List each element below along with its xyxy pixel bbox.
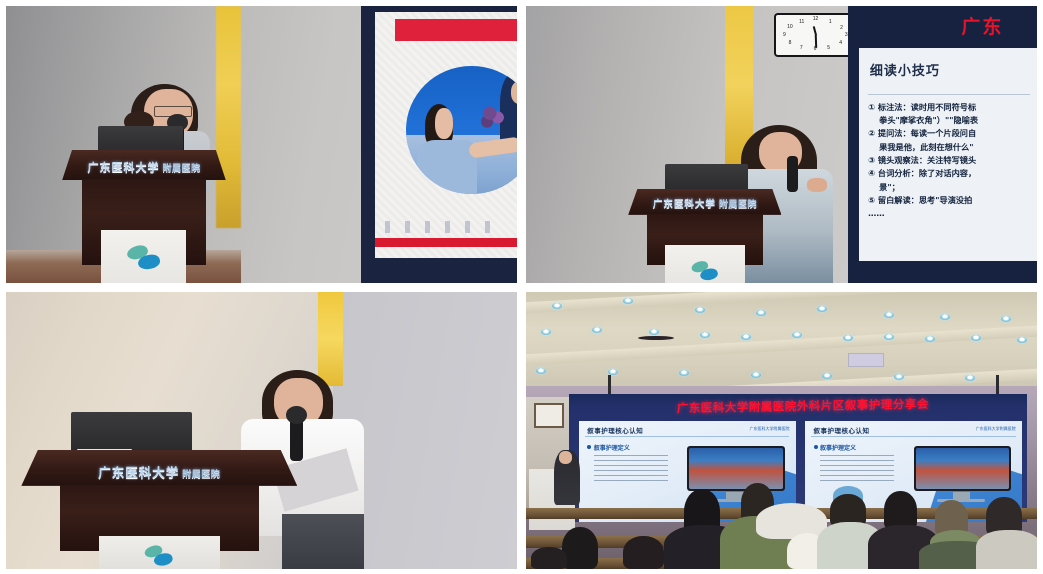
clock-number-7: 7: [800, 46, 803, 51]
slide-heading: 细读小技巧: [870, 60, 940, 79]
slide-icon-row: [379, 221, 501, 233]
photo-bottom-left: 广东医科大学附属医院: [6, 292, 517, 569]
lectern-label: 广东医科大学附属医院: [628, 196, 781, 210]
clock-number-10: 10: [787, 25, 793, 30]
slide-header: 叙事护理核心认知: [814, 425, 870, 435]
slide-bullet-5: ⑤ 留白解读：思考"导演没拍: [868, 194, 1035, 207]
ceiling-downlight: [741, 334, 751, 340]
clock-number-11: 11: [799, 20, 804, 25]
slide-bullet-4-cont: 景"；: [868, 181, 1035, 194]
microphone-stand: [787, 156, 798, 192]
lectern-label-main: 广东医科大学: [653, 199, 716, 210]
lectern-base: [101, 230, 186, 283]
wall-clock: 12 1 2 3 4 5 6 7 8 9 10 11: [774, 13, 858, 57]
slide-bullet: 叙事护理定义: [820, 443, 856, 452]
slide-red-banner: [395, 19, 517, 41]
photo-top-right: 12 1 2 3 4 5 6 7 8 9 10 11 广东 细读小技巧: [526, 6, 1037, 283]
lectern: 广东医科大学附属医院: [62, 150, 226, 283]
patient-body: [417, 140, 477, 194]
audience-head: [623, 536, 664, 569]
ceiling-downlight: [792, 332, 802, 338]
ceiling-downlight: [700, 332, 710, 338]
photo-top-left: 广东医科大学附属医院: [6, 6, 517, 283]
ceiling-downlight: [822, 373, 832, 379]
lectern-label: 广东医科大学附属医院: [62, 159, 226, 175]
laptop-screen: [665, 164, 748, 192]
projection-screen: [361, 6, 517, 283]
clock-minute-hand: [815, 35, 817, 48]
slide-header: 叙事护理核心认知: [587, 425, 643, 435]
audience-shoulders: [976, 530, 1037, 569]
clock-number-12: 12: [813, 17, 819, 22]
ceiling-downlight: [608, 369, 618, 375]
lectern-label: 广东医科大学附属医院: [21, 462, 297, 481]
slide-bullet-1-cont: 拳头"摩挲衣角"）""隐喻表: [868, 114, 1035, 127]
butterfly-logo: [127, 246, 161, 272]
ceiling-downlight: [1017, 337, 1027, 343]
ceiling-downlight: [536, 368, 546, 374]
slide-bullet-list: ① 标注法：读时用不同符号标 拳头"摩挲衣角"）""隐喻表 ② 提问法：每读一个…: [868, 101, 1035, 257]
slide-bottom-bar: [375, 238, 517, 247]
clock-face: 12 1 2 3 4 5 6 7 8 9 10 11: [776, 15, 856, 55]
wall-frame: [534, 403, 565, 428]
ceiling-downlight: [894, 374, 904, 380]
butterfly-logo: [145, 546, 174, 568]
led-banner-title: 广东医科大学附属医院外科片区叙事护理分享会: [597, 395, 1009, 423]
ceiling-downlight: [695, 307, 705, 313]
ceiling-vent: [848, 353, 884, 367]
laptop-screen: [71, 412, 192, 452]
ceiling-downlight: [884, 312, 894, 318]
ceiling-downlight: [971, 335, 981, 341]
monitor-image: [689, 448, 783, 488]
slide-body-text: [594, 455, 668, 481]
patient-face: [435, 108, 453, 139]
lectern-label-main: 广东医科大学: [98, 465, 179, 480]
lectern-base: [665, 245, 745, 283]
ceiling-downlight: [541, 329, 551, 335]
lectern-base: [99, 536, 220, 569]
audience-head: [531, 547, 567, 569]
slide-oval-photo: [406, 66, 517, 194]
bullet-dot-icon: [587, 445, 591, 449]
ceiling-downlight: [592, 327, 602, 333]
ceiling-downlight: [925, 336, 935, 342]
microphone-head: [286, 406, 307, 424]
speaker-face: [559, 451, 572, 463]
presentation-slide: 细读小技巧 ① 标注法：读时用不同符号标 拳头"摩挲衣角"）""隐喻表 ② 提问…: [859, 48, 1037, 261]
presentation-slide: [375, 12, 517, 259]
ceiling: [526, 292, 1037, 397]
clock-number-9: 9: [783, 33, 786, 38]
monitor-image: [916, 448, 1010, 488]
clock-number-8: 8: [789, 41, 792, 46]
ceiling-downlight: [552, 303, 562, 309]
slide-body-text: [820, 455, 894, 481]
slide-ellipsis: ……: [868, 207, 1035, 220]
slide-monitor-graphic: [687, 446, 785, 490]
speaker-hand: [807, 178, 827, 192]
slide-monitor-graphic: [914, 446, 1012, 490]
lectern-label-main: 广东医科大学: [87, 161, 159, 174]
ceiling-downlight: [843, 335, 853, 341]
ceiling-band-upper: [526, 292, 1037, 314]
ceiling-band-mid: [526, 324, 1037, 366]
bullet-dot-icon: [814, 445, 818, 449]
lectern-label-sub: 附属医院: [719, 200, 757, 210]
slide-bullet-2-cont: 果我是他，此刻在想什么": [868, 141, 1035, 154]
lectern-label-sub: 附属医院: [162, 164, 200, 174]
clock-number-5: 5: [827, 46, 830, 51]
slide-divider: [811, 436, 1015, 437]
butterfly-logo: [691, 261, 718, 282]
slide-bullet-2: ② 提问法：每读一个片段问自: [868, 127, 1035, 140]
ceiling-downlight: [884, 334, 894, 340]
audience-head: [562, 527, 598, 569]
projection-screen: 广东 细读小技巧 ① 标注法：读时用不同符号标 拳头"摩挲衣角"）""隐喻表 ②…: [848, 6, 1037, 283]
slide-bullet-1: ① 标注法：读时用不同符号标: [868, 101, 1035, 114]
slide-divider: [585, 436, 789, 437]
ceiling-downlight: [817, 306, 827, 312]
ceiling-downlight: [756, 310, 766, 316]
slide-red-title: 广东: [961, 12, 1037, 42]
slide-bullet-4: ④ 台词分析：除了对话内容，: [868, 167, 1035, 180]
lectern: 广东医科大学附属医院: [21, 450, 297, 569]
lectern: 广东医科大学附属医院: [628, 189, 781, 283]
yellow-curtain: [318, 292, 344, 386]
clock-number-1: 1: [829, 20, 832, 25]
slide-logo-text: 广东医科大学附属医院: [749, 426, 789, 432]
slide-bullet: 叙事护理定义: [594, 443, 630, 452]
photo-collage: 广东医科大学附属医院 12 1 2 3 4 5 6 7: [0, 0, 1043, 574]
ceiling-downlight: [751, 372, 761, 378]
clock-number-4: 4: [839, 41, 842, 46]
slide-divider: [868, 94, 1030, 95]
ceiling-downlight: [940, 314, 950, 320]
clock-number-2: 2: [840, 26, 843, 31]
ceiling-downlight: [1001, 316, 1011, 322]
ceiling-downlight: [649, 329, 659, 335]
monitor-stand: [953, 492, 970, 499]
ceiling-downlight: [679, 370, 689, 376]
flower-bouquet: [479, 102, 505, 130]
slide-logo-text: 广东医科大学附属医院: [976, 426, 1016, 432]
audience-cap-white: [756, 503, 828, 539]
photo-bottom-right: 广东医科大学附属医院外科片区叙事护理分享会 叙事护理核心认知 广东医科大学附属医…: [526, 292, 1037, 569]
ceiling-speaker: [638, 336, 674, 340]
lectern-label-sub: 附属医院: [182, 470, 220, 480]
slide-bullet-3: ③ 镜头观察法：关注特写镜头: [868, 154, 1035, 167]
